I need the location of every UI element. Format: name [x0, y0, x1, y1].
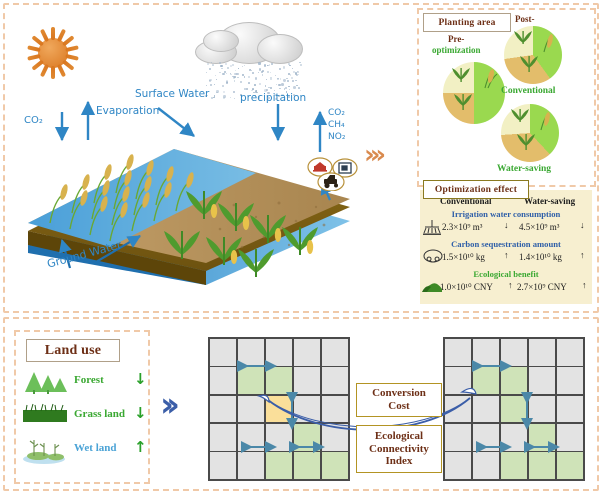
- conversion-cost-text: Conversion Cost: [372, 387, 426, 412]
- rain-drop: [206, 85, 208, 87]
- land-use-label-forest: Forest: [74, 374, 104, 386]
- top-transition-arrow: ›››: [364, 140, 381, 170]
- land-use-label-wetland: Wet land: [74, 442, 116, 454]
- surface-water-label: Surface Water: [135, 88, 209, 100]
- rain-drop: [254, 84, 256, 86]
- grid-cell-r5-c1[interactable]: [210, 452, 236, 479]
- rain-drop: [207, 63, 209, 65]
- col-header-water-saving: Water-saving: [524, 196, 575, 206]
- rain-drop: [275, 75, 276, 76]
- land-use-label-grass: Grass land: [74, 408, 125, 420]
- source-icons: [307, 157, 359, 196]
- rain-drop: [287, 80, 289, 82]
- rain-drop: [222, 73, 224, 75]
- grid-cell-r4-c5[interactable]: [322, 424, 348, 451]
- rain-drop: [286, 78, 287, 79]
- rain-drop: [281, 83, 284, 86]
- rain-drop: [265, 85, 267, 87]
- rain-drop: [291, 77, 292, 78]
- rain-drop: [296, 85, 298, 87]
- rain-drop: [232, 64, 234, 66]
- rain-drop: [216, 79, 218, 81]
- grid-cell-r2-c3[interactable]: [266, 367, 292, 394]
- rain-drop: [258, 72, 259, 73]
- rain-drop: [242, 74, 243, 75]
- grid-cell-r5-c5[interactable]: [557, 452, 583, 479]
- rain-drop: [279, 88, 280, 89]
- rain-drop: [255, 77, 257, 79]
- rain-drop: [285, 87, 287, 89]
- rain-drop: [214, 84, 215, 85]
- pie-pre-icons: [443, 62, 505, 124]
- rain-drop: [267, 71, 269, 73]
- sun-ray: [65, 45, 79, 52]
- rain-drop: [274, 90, 275, 91]
- rain-drop: [222, 85, 224, 87]
- grid-cell-r4-c3[interactable]: [501, 424, 527, 451]
- pie-water-saving-icons: [501, 104, 559, 162]
- grid-cell-r1-c1[interactable]: [445, 339, 471, 366]
- grid-cell-r1-c5[interactable]: [557, 339, 583, 366]
- rain-drop: [280, 78, 281, 79]
- wetland-icon: [22, 434, 68, 464]
- rain-drop: [293, 86, 296, 89]
- conversion-cost-label: Conversion Cost: [356, 383, 442, 417]
- rain-drop: [300, 64, 302, 66]
- grid-cell-r2-c4[interactable]: [529, 367, 555, 394]
- rain-drop: [248, 82, 250, 84]
- grid-cell-r1-c1[interactable]: [210, 339, 236, 366]
- optimization-effect-box: Conventional Water-saving Irrigation wat…: [420, 190, 592, 304]
- ecological-conventional-value: 1.0×10¹⁰ CNY: [440, 282, 493, 293]
- rain-drop: [290, 74, 291, 75]
- rain-drop: [226, 73, 227, 74]
- rain-drop: [234, 73, 236, 75]
- rain-drop: [283, 66, 285, 68]
- rain-drop: [226, 81, 228, 83]
- grid-cell-r1-c2[interactable]: [473, 339, 499, 366]
- sun-ray: [51, 27, 55, 40]
- grid-cell-r3-c2[interactable]: [238, 396, 264, 423]
- rain-drop: [267, 65, 269, 67]
- rain-drop: [246, 88, 248, 90]
- grid-cell-r4-c5[interactable]: [557, 424, 583, 451]
- rain-drop: [240, 81, 242, 83]
- grid-cell-r3-c4[interactable]: [529, 396, 555, 423]
- rain-drop: [279, 68, 281, 70]
- rain-drop: [270, 79, 271, 80]
- landscape-icon: [421, 276, 443, 294]
- evaporation-label: Evaporation: [96, 105, 159, 117]
- water-saving-pie-label: Water-saving: [497, 164, 551, 174]
- grid-cell-r2-c2[interactable]: [238, 367, 264, 394]
- rain-drop: [219, 72, 221, 74]
- rain-drop: [258, 62, 261, 65]
- ecological-water-saving-trend: ↑: [582, 280, 587, 290]
- grid-cell-r5-c3[interactable]: [501, 452, 527, 479]
- rain-drop: [227, 67, 230, 70]
- rain-drop: [266, 89, 268, 91]
- metric-carbon-label: Carbon sequestration amount: [420, 239, 592, 249]
- grid-cell-r1-c4[interactable]: [529, 339, 555, 366]
- sun-ray: [65, 54, 79, 61]
- rain-drop: [244, 76, 245, 77]
- rain-drop: [266, 79, 267, 80]
- post-label: Post-: [515, 14, 535, 24]
- carbon-cloud-icon: [422, 248, 444, 266]
- rain-drop: [220, 65, 222, 67]
- rain-drop: [233, 91, 236, 94]
- irrigation-water-saving-trend: ↓: [580, 220, 585, 230]
- metric-ecological-label: Ecological benefit: [420, 269, 592, 279]
- planting-area-title: Planting area: [423, 13, 511, 32]
- grid-cell-r2-c1[interactable]: [210, 367, 236, 394]
- pre-optimization-label-line1: Pre-: [448, 34, 464, 44]
- metric-irrigation-label: Irrigation water consumption: [420, 209, 592, 219]
- rain-drop: [237, 77, 239, 79]
- grid-cell-r2-c5[interactable]: [557, 367, 583, 394]
- grid-cell-r3-c5[interactable]: [557, 396, 583, 423]
- rain-drop: [248, 76, 250, 78]
- irrigation-conventional-trend: ↓: [504, 220, 509, 230]
- sun-ray: [51, 66, 55, 79]
- land-use-trend-forest: ↓: [134, 370, 147, 388]
- rain-drop: [292, 68, 293, 69]
- grid-cell-r2-c1[interactable]: [445, 367, 471, 394]
- conventional-pie-label: Conventional: [501, 86, 555, 96]
- ecological-connectivity-label: Ecological Connectivity Index: [356, 425, 442, 473]
- grid-cell-r1-c2[interactable]: [238, 339, 264, 366]
- grid-cell-r5-c4[interactable]: [294, 452, 320, 479]
- grid-cell-r4-c4[interactable]: [529, 424, 555, 451]
- forest-icon: [22, 366, 68, 394]
- grass-icon: [22, 402, 68, 424]
- grid-cell-r4-c1[interactable]: [445, 424, 471, 451]
- rain-drop: [236, 73, 238, 75]
- irrigation-water-saving-value: 4.5×10⁹ m³: [519, 222, 559, 232]
- grid-cell-r2-c3[interactable]: [501, 367, 527, 394]
- rain-drop: [244, 65, 245, 66]
- rain-drop: [235, 70, 236, 71]
- rain-drop: [234, 80, 235, 81]
- grid-cell-r1-c3[interactable]: [266, 339, 292, 366]
- optimization-effect-title: Optimization effect: [423, 180, 529, 199]
- rain-drop: [209, 79, 212, 82]
- grid-cell-r3-c4[interactable]: [294, 396, 320, 423]
- grid-cell-r5-c5[interactable]: [322, 452, 348, 479]
- emission-no2-label: NO₂: [328, 132, 345, 142]
- bottom-transition-arrow: ››: [160, 385, 172, 425]
- grid-cell-r4-c1[interactable]: [210, 424, 236, 451]
- land-use-trend-grass: ↓: [134, 404, 147, 422]
- grid-cell-r1-c4[interactable]: [294, 339, 320, 366]
- rain-drop: [270, 87, 272, 89]
- ecological-water-saving-value: 2.7×10⁹ CNY: [517, 282, 567, 292]
- rain-drop: [223, 91, 225, 93]
- sun-ray: [62, 60, 75, 71]
- rain-drop: [270, 72, 271, 73]
- grid-cell-r3-c1[interactable]: [445, 396, 471, 423]
- rain-drop: [288, 73, 290, 75]
- precipitation-label: precipitation: [240, 92, 306, 104]
- rain-drop: [221, 68, 223, 70]
- rain-drop: [238, 68, 239, 69]
- grid-cell-r1-c5[interactable]: [322, 339, 348, 366]
- grid-cell-r4-c4[interactable]: [294, 424, 320, 451]
- carbon-water-saving-trend: ↑: [580, 250, 585, 260]
- grid-cell-r3-c3[interactable]: [266, 396, 292, 423]
- sun-ray: [62, 35, 75, 46]
- rain-drop: [210, 84, 213, 87]
- carbon-water-saving-value: 1.4×10¹⁰ kg: [519, 252, 562, 263]
- sun-icon: [27, 27, 79, 79]
- ecological-connectivity-text: Ecological Connectivity Index: [369, 430, 429, 468]
- rain-drop: [212, 64, 214, 66]
- carbon-conventional-trend: ↑: [504, 250, 509, 260]
- rain-drop: [289, 89, 291, 91]
- carbon-conventional-value: 1.5×10¹⁰ kg: [442, 252, 485, 263]
- rain-drop: [276, 84, 278, 86]
- rain-drop: [264, 64, 266, 66]
- rain-drop: [292, 80, 294, 82]
- emission-ch4-label: CH₄: [328, 120, 345, 130]
- rain-drop: [211, 62, 212, 63]
- after-grid: [443, 337, 585, 481]
- grid-cell-r5-c1[interactable]: [445, 452, 471, 479]
- grid-cell-r5-c2[interactable]: [238, 452, 264, 479]
- rain-drop: [295, 80, 296, 81]
- grid-cell-r2-c4[interactable]: [294, 367, 320, 394]
- sun-ray: [40, 64, 49, 77]
- land-use-trend-wetland: ↑: [134, 438, 147, 456]
- land-use-title: Land use: [26, 339, 120, 362]
- grid-cell-r4-c2[interactable]: [473, 424, 499, 451]
- grid-cell-r4-c2[interactable]: [238, 424, 264, 451]
- land-use-row-wetland: Wet land ↑: [22, 434, 142, 464]
- grid-cell-r3-c5[interactable]: [322, 396, 348, 423]
- grid-cell-r2-c5[interactable]: [322, 367, 348, 394]
- rain-drop: [271, 63, 273, 65]
- grid-cell-r3-c3[interactable]: [501, 396, 527, 423]
- pie-conventional-icons: [504, 26, 562, 84]
- pre-optimization-label-line2: optimization: [432, 45, 481, 55]
- grid-cell-r5-c2[interactable]: [473, 452, 499, 479]
- grid-cell-r5-c4[interactable]: [529, 452, 555, 479]
- rain-drop: [216, 90, 218, 92]
- grid-cell-r5-c3[interactable]: [266, 452, 292, 479]
- grid-cell-r3-c1[interactable]: [210, 396, 236, 423]
- land-use-row-forest: Forest ↓: [22, 366, 142, 396]
- before-grid: [208, 337, 350, 481]
- grid-cell-r2-c2[interactable]: [473, 367, 499, 394]
- sprinkler-icon: [422, 218, 442, 236]
- rain-drop: [262, 74, 264, 76]
- co2-label: CO₂: [24, 115, 43, 126]
- rain-drop: [288, 86, 289, 87]
- irrigation-conventional-value: 2.3×10⁹ m³: [442, 222, 482, 232]
- rain-drop: [206, 72, 207, 73]
- land-use-row-grass: Grass land ↓: [22, 400, 142, 430]
- rain-drop: [233, 77, 235, 79]
- rain-drop: [215, 75, 216, 76]
- grid-cell-r3-c2[interactable]: [473, 396, 499, 423]
- rain-drop: [252, 72, 255, 75]
- rain-drop: [296, 74, 298, 76]
- sun-ray: [57, 64, 66, 77]
- ecological-conventional-trend: ↑: [508, 280, 513, 290]
- grid-cell-r4-c3[interactable]: [266, 424, 292, 451]
- emission-co2-label: CO₂: [328, 108, 345, 118]
- grid-cell-r1-c3[interactable]: [501, 339, 527, 366]
- rain-drop: [283, 79, 285, 81]
- rain-drop: [225, 63, 227, 65]
- rain-drop: [219, 62, 221, 64]
- rain-drop: [259, 83, 261, 85]
- rain-drop: [209, 68, 211, 70]
